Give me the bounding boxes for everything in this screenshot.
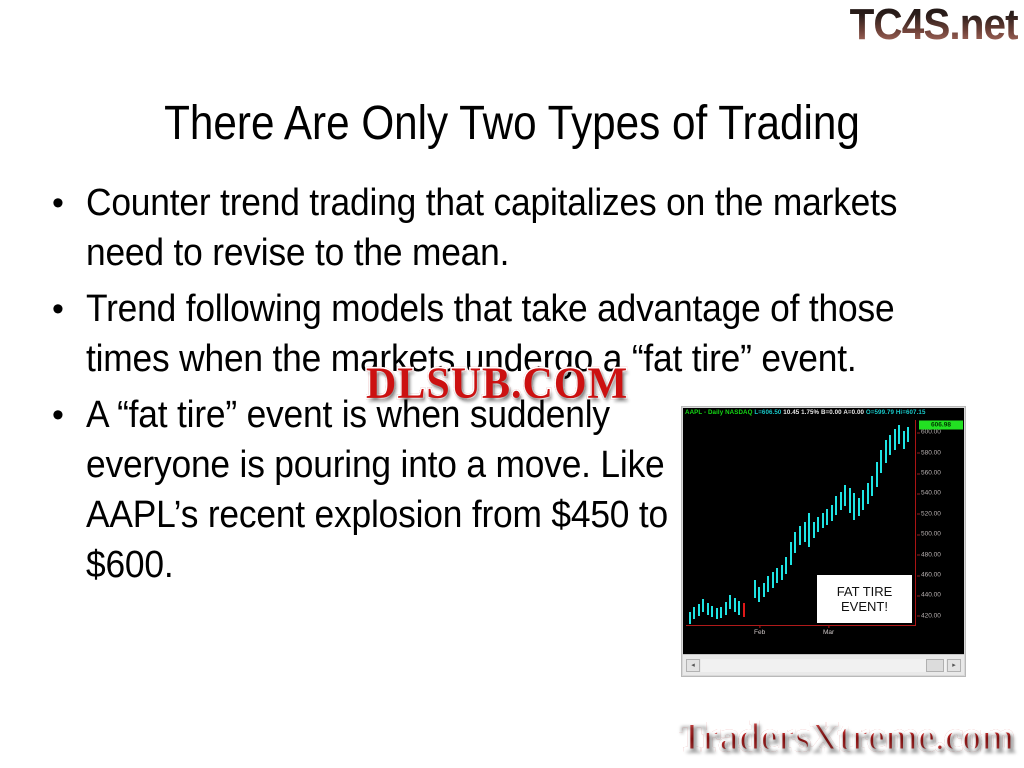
price-bar — [772, 572, 774, 588]
price-bar — [689, 612, 691, 624]
price-bar — [729, 595, 731, 608]
price-tick-label: 440.00 — [921, 592, 941, 599]
chart-bid: B=0.00 — [821, 409, 842, 416]
chart-interval: Daily — [708, 409, 723, 416]
price-bar — [853, 493, 855, 520]
chart-change: 10.45 — [783, 409, 799, 416]
price-bar — [707, 603, 709, 615]
price-tick-label: 580.00 — [921, 449, 941, 456]
chart-ask: A=0.00 — [843, 409, 864, 416]
scrollbar-thumb[interactable] — [926, 659, 944, 672]
price-bar — [894, 429, 896, 449]
fat-tire-annotation: FAT TIRE EVENT! — [816, 574, 913, 624]
price-bar — [885, 440, 887, 462]
tc4s-watermark: TC4S.net — [850, 2, 1018, 48]
date-axis: FebMar — [686, 625, 916, 644]
price-bar — [693, 607, 695, 619]
price-bar — [867, 483, 869, 503]
price-bar — [831, 505, 833, 521]
fat-tire-line-1: FAT TIRE — [837, 584, 893, 599]
price-bar — [822, 513, 824, 528]
price-bar — [835, 496, 837, 514]
date-tick-label: Mar — [823, 629, 834, 636]
chart-symbol: AAPL — [685, 409, 702, 416]
price-bar — [871, 476, 873, 496]
chart-separator: - — [704, 409, 706, 416]
price-tick-label: 520.00 — [921, 510, 941, 517]
chart-change-pct: 1.75% — [801, 409, 819, 416]
price-bar — [754, 580, 756, 598]
price-bar — [849, 488, 851, 512]
price-tick-label: 460.00 — [921, 572, 941, 579]
chart-open: O=599.79 — [866, 409, 894, 416]
tradersxtreme-watermark: TradersXtreme.com — [679, 713, 1014, 760]
price-bar — [876, 462, 878, 487]
price-bar — [907, 427, 909, 442]
bullet-marker-icon: • — [52, 284, 86, 334]
price-bar — [790, 542, 792, 564]
stock-chart-window: AAPL - Daily NASDAQ L=606.50 10.45 1.75%… — [681, 406, 966, 677]
price-bar — [794, 532, 796, 552]
price-bar — [862, 490, 864, 509]
price-bar — [720, 607, 722, 618]
price-bar — [734, 598, 736, 611]
price-bar — [813, 522, 815, 538]
price-bar — [826, 509, 828, 525]
price-bar — [858, 498, 860, 516]
bullet-text: Counter trend trading that capitalizes o… — [86, 178, 910, 278]
price-bar — [799, 526, 801, 545]
price-tick-label: 420.00 — [921, 612, 941, 619]
price-bar — [702, 599, 704, 611]
chart-high: Hi=607.15 — [896, 409, 926, 416]
price-bar — [840, 492, 842, 509]
chart-canvas: AAPL - Daily NASDAQ L=606.50 10.45 1.75%… — [683, 408, 964, 654]
price-bar — [889, 435, 891, 454]
date-tick-label: Feb — [754, 629, 765, 636]
price-bar — [758, 587, 760, 601]
dlsub-watermark: DLSUB.COM — [366, 359, 628, 409]
price-bar — [903, 431, 905, 448]
price-bar — [763, 583, 765, 597]
price-tick-label: 600.00 — [921, 429, 941, 436]
price-bar — [711, 606, 713, 617]
page-title: There Are Only Two Types of Trading — [61, 96, 962, 151]
price-bar — [781, 565, 783, 580]
scrollbar-track[interactable] — [701, 659, 946, 672]
bullet-marker-icon: • — [52, 390, 86, 440]
price-bar — [738, 601, 740, 615]
bullet-text: A “fat tire” event is when suddenly ever… — [86, 390, 691, 590]
price-tick-label: 500.00 — [921, 531, 941, 538]
price-bar — [767, 576, 769, 592]
price-bar — [844, 485, 846, 505]
price-tick-label: 560.00 — [921, 470, 941, 477]
price-bar — [880, 450, 882, 473]
price-tick-label: 480.00 — [921, 551, 941, 558]
price-bar — [898, 425, 900, 444]
fat-tire-line-2: EVENT! — [841, 599, 888, 614]
price-tick-label: 540.00 — [921, 490, 941, 497]
price-bar — [804, 522, 806, 542]
price-bar — [808, 513, 810, 548]
bullet-marker-icon: • — [52, 178, 86, 228]
price-bar — [725, 602, 727, 615]
price-bar — [817, 517, 819, 532]
price-bar — [743, 603, 745, 617]
price-bar — [698, 604, 700, 616]
price-bar — [716, 608, 718, 619]
price-bar — [785, 557, 787, 574]
price-bar — [776, 568, 778, 583]
scroll-right-arrow-icon[interactable]: ▸ — [947, 659, 961, 672]
chart-exchange: NASDAQ — [725, 409, 752, 416]
chart-header-quote-line: AAPL - Daily NASDAQ L=606.50 10.45 1.75%… — [685, 409, 926, 416]
list-item: • Counter trend trading that capitalizes… — [52, 178, 972, 278]
last-price-tag: 606.98 — [919, 421, 963, 430]
chart-last: L=606.50 — [754, 409, 781, 416]
chart-horizontal-scrollbar[interactable]: ◂ ▸ — [683, 654, 964, 675]
scroll-left-arrow-icon[interactable]: ◂ — [686, 659, 700, 672]
